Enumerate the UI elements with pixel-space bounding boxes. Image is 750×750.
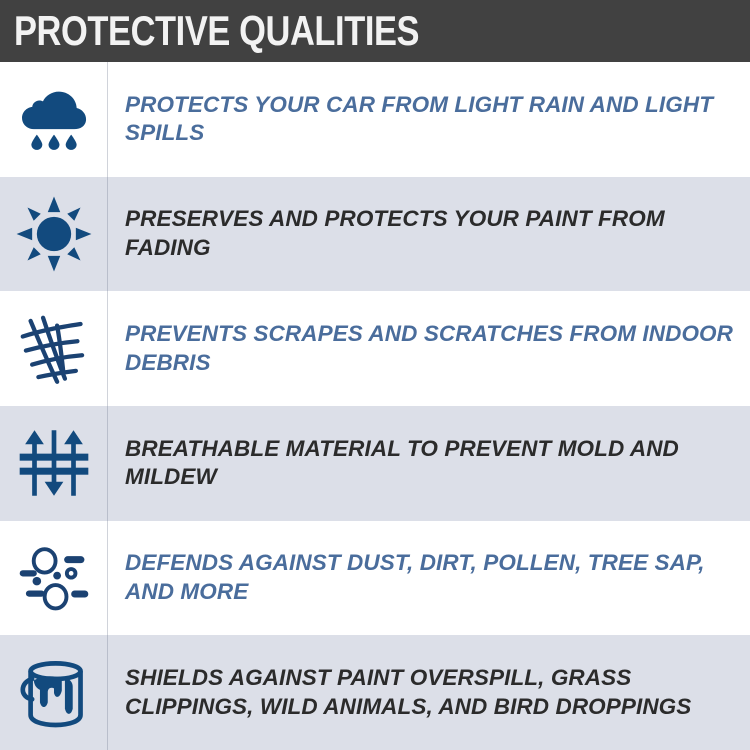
list-item: PREVENTS SCRAPES AND SCRATCHES FROM INDO… (0, 291, 750, 406)
icon-cell (0, 291, 108, 406)
feature-text: SHIELDS AGAINST PAINT OVERSPILL, GRASS C… (125, 664, 734, 722)
rain-cloud-icon (15, 80, 93, 158)
dust-particles-icon (15, 539, 93, 617)
header-bar: PROTECTIVE QUALITIES (0, 0, 750, 62)
text-cell: PREVENTS SCRAPES AND SCRATCHES FROM INDO… (108, 291, 750, 406)
feature-text: PREVENTS SCRAPES AND SCRATCHES FROM INDO… (125, 320, 734, 378)
icon-cell (0, 521, 108, 636)
breathable-airflow-icon (15, 424, 93, 502)
text-cell: DEFENDS AGAINST DUST, DIRT, POLLEN, TREE… (108, 521, 750, 636)
text-cell: SHIELDS AGAINST PAINT OVERSPILL, GRASS C… (108, 635, 750, 750)
icon-cell (0, 177, 108, 292)
list-item: DEFENDS AGAINST DUST, DIRT, POLLEN, TREE… (0, 521, 750, 636)
list-item: PROTECTS YOUR CAR FROM LIGHT RAIN AND LI… (0, 62, 750, 177)
protective-qualities-infographic: PROTECTIVE QUALITIES PROTECTS YOUR CAR F… (0, 0, 750, 750)
feature-text: BREATHABLE MATERIAL TO PREVENT MOLD AND … (125, 435, 734, 493)
page-title: PROTECTIVE QUALITIES (14, 10, 419, 52)
list-item: BREATHABLE MATERIAL TO PREVENT MOLD AND … (0, 406, 750, 521)
list-item: SHIELDS AGAINST PAINT OVERSPILL, GRASS C… (0, 635, 750, 750)
icon-cell (0, 635, 108, 750)
feature-list: PROTECTS YOUR CAR FROM LIGHT RAIN AND LI… (0, 62, 750, 750)
text-cell: PRESERVES AND PROTECTS YOUR PAINT FROM F… (108, 177, 750, 292)
text-cell: PROTECTS YOUR CAR FROM LIGHT RAIN AND LI… (108, 62, 750, 177)
paint-can-icon (15, 654, 93, 732)
icon-cell (0, 62, 108, 177)
text-cell: BREATHABLE MATERIAL TO PREVENT MOLD AND … (108, 406, 750, 521)
feature-text: PROTECTS YOUR CAR FROM LIGHT RAIN AND LI… (125, 91, 734, 149)
list-item: PRESERVES AND PROTECTS YOUR PAINT FROM F… (0, 177, 750, 292)
sun-icon (15, 195, 93, 273)
scratches-icon (15, 310, 93, 388)
feature-text: DEFENDS AGAINST DUST, DIRT, POLLEN, TREE… (125, 549, 734, 607)
icon-cell (0, 406, 108, 521)
feature-text: PRESERVES AND PROTECTS YOUR PAINT FROM F… (125, 205, 734, 263)
